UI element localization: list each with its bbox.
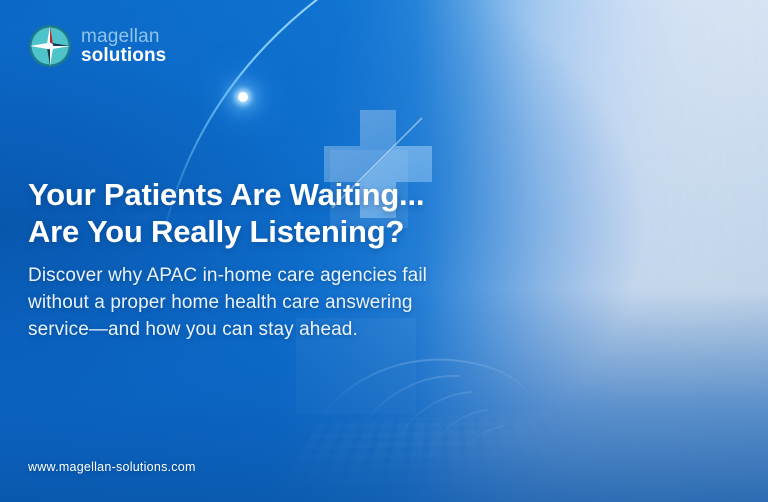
subcopy-line-3: service—and how you can stay ahead. (28, 317, 528, 344)
brand-name-line1: magellan (81, 27, 166, 46)
hero-subcopy: Discover why APAC in-home care agencies … (28, 263, 528, 344)
website-url[interactable]: www.magellan-solutions.com (28, 460, 196, 474)
subcopy-line-1: Discover why APAC in-home care agencies … (28, 263, 528, 290)
headline-line-2: Are You Really Listening? (28, 213, 548, 250)
hero-copy: Your Patients Are Waiting... Are You Rea… (28, 176, 548, 344)
compass-rose-icon (28, 24, 72, 68)
subcopy-line-2: without a proper home health care answer… (28, 290, 528, 317)
brand-name-line2: solutions (81, 46, 166, 65)
headline-line-1: Your Patients Are Waiting... (28, 176, 548, 213)
marketing-banner: magellan MAGELLAN (0, 0, 768, 502)
glow-node-icon (238, 92, 248, 102)
brand-logo[interactable]: magellan solutions (28, 24, 166, 68)
page-title: Your Patients Are Waiting... Are You Rea… (28, 176, 548, 250)
